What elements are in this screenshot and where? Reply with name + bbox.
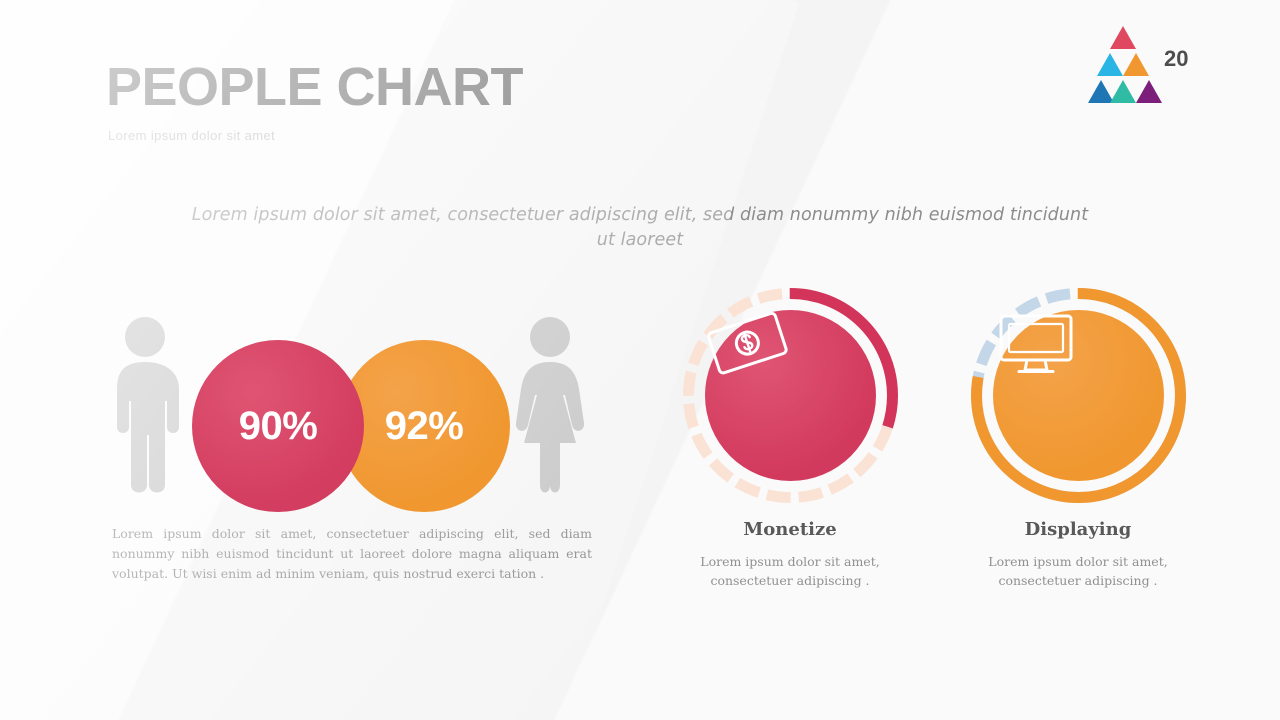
logo-triangles-icon — [1088, 22, 1208, 112]
people-description: Lorem ipsum dolor sit amet, consectetuer… — [112, 524, 592, 584]
donut-chart-displaying — [971, 288, 1186, 503]
donut-center-monetize — [705, 310, 876, 481]
donut-block-displaying: Displaying Lorem ipsum dolor sit amet, c… — [948, 288, 1208, 591]
logo-number: 20 — [1164, 46, 1188, 72]
male-person-icon — [105, 315, 185, 500]
intro-text: Lorem ipsum dolor sit amet, consectetuer… — [190, 203, 1090, 254]
donut-chart-monetize — [683, 288, 898, 503]
female-person-icon — [510, 315, 590, 500]
page-title: PEOPLE CHART — [106, 60, 523, 114]
female-percentage-value: 92% — [385, 404, 464, 449]
slide-canvas: PEOPLE CHART Lorem ipsum dolor sit amet … — [0, 0, 1280, 720]
donut-block-monetize: Monetize Lorem ipsum dolor sit amet, con… — [660, 288, 920, 591]
money-bill-icon — [705, 310, 791, 380]
page-subtitle: Lorem ipsum dolor sit amet — [108, 128, 275, 143]
donut-description-monetize: Lorem ipsum dolor sit amet, consectetuer… — [660, 552, 920, 591]
male-percentage-bubble: 90% — [192, 340, 364, 512]
donut-description-displaying: Lorem ipsum dolor sit amet, consectetuer… — [948, 552, 1208, 591]
donut-title-monetize: Monetize — [660, 519, 920, 540]
monitor-icon — [993, 310, 1079, 376]
people-chart-group: 90% 92% — [100, 300, 600, 520]
logo: 20 — [1088, 22, 1208, 112]
donut-title-displaying: Displaying — [948, 519, 1208, 540]
male-percentage-value: 90% — [239, 404, 318, 449]
donut-center-displaying — [993, 310, 1164, 481]
